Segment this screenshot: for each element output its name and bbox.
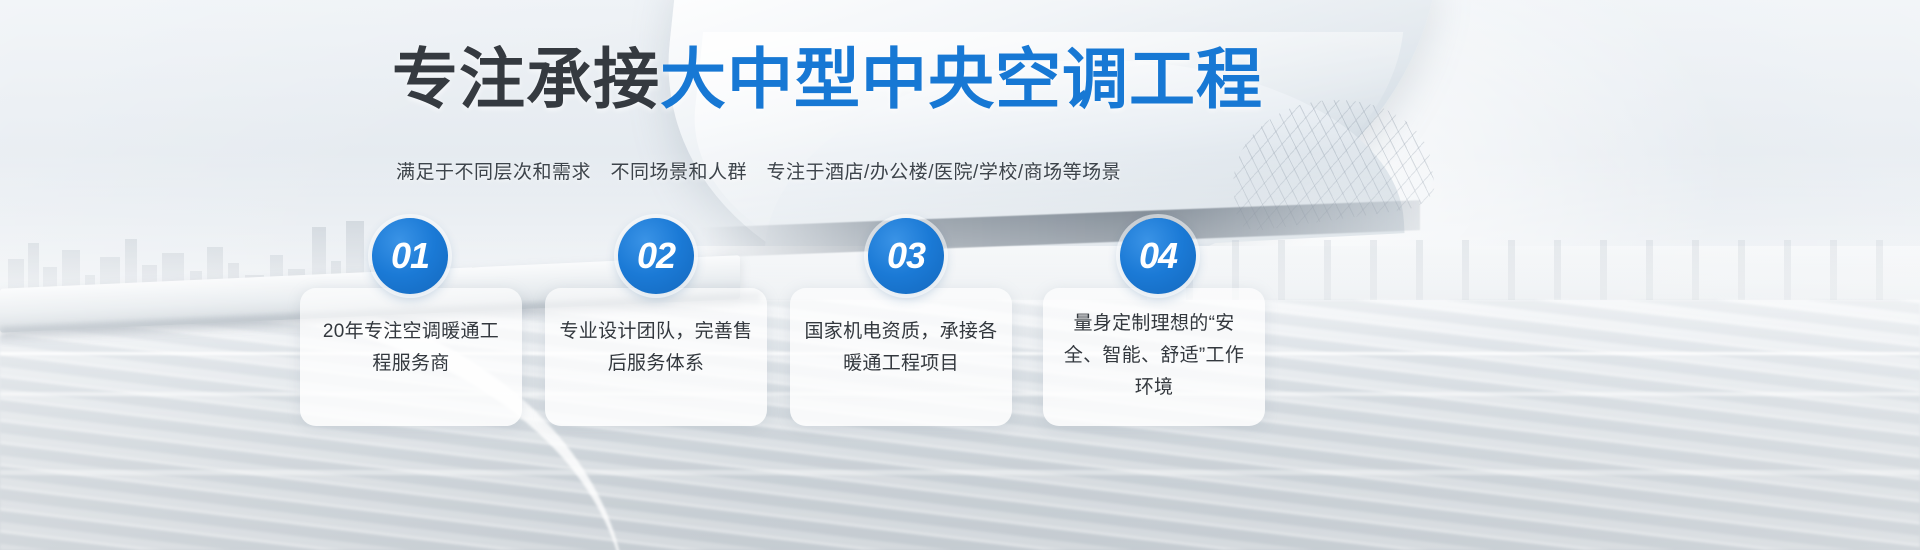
hero-banner: 专注承接大中型中央空调工程 满足于不同层次和需求 不同场景和人群 专注于酒店/办… <box>0 0 1920 550</box>
feature-card-03[interactable]: 国家机电资质，承接各暖通工程项目 <box>790 288 1012 426</box>
feature-card-list: 20年专注空调暖通工程服务商 01 专业设计团队，完善售后服务体系 02 国家机… <box>0 0 1920 550</box>
feature-card-text: 20年专注空调暖通工程服务商 <box>314 316 508 380</box>
feature-badge-04: 04 <box>1120 218 1196 294</box>
feature-card-text: 量身定制理想的“安全、智能、舒适”工作环境 <box>1057 308 1251 404</box>
feature-badge-03: 03 <box>868 218 944 294</box>
feature-card-01[interactable]: 20年专注空调暖通工程服务商 <box>300 288 522 426</box>
feature-card-04[interactable]: 量身定制理想的“安全、智能、舒适”工作环境 <box>1043 288 1265 426</box>
feature-card-text: 国家机电资质，承接各暖通工程项目 <box>804 316 998 380</box>
feature-card-text: 专业设计团队，完善售后服务体系 <box>559 316 753 380</box>
feature-card-02[interactable]: 专业设计团队，完善售后服务体系 <box>545 288 767 426</box>
feature-badge-01: 01 <box>372 218 448 294</box>
feature-badge-02: 02 <box>618 218 694 294</box>
